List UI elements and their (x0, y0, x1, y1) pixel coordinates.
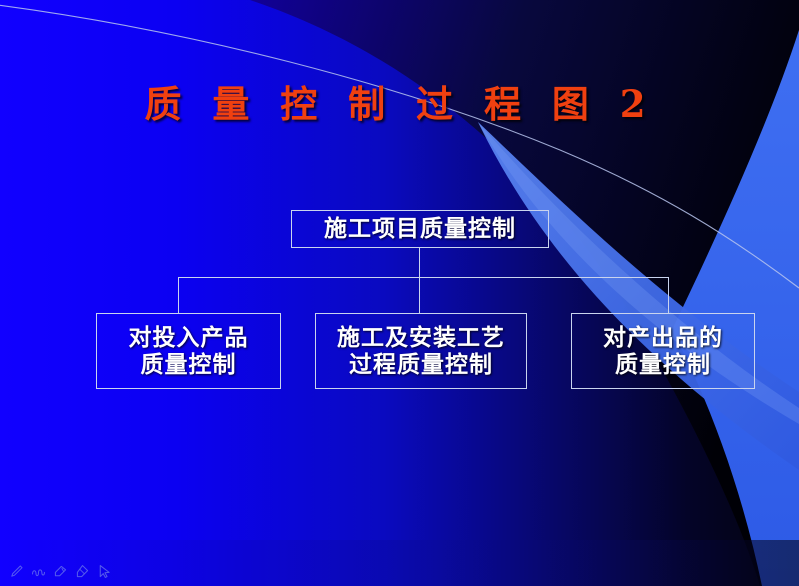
node-process-line-1: 施工及安装工艺 (337, 324, 505, 351)
node-output-line-1: 对产出品的 (603, 324, 723, 351)
connector-root-stem (419, 248, 420, 277)
node-input-line-2: 质量控制 (141, 351, 237, 378)
slide-title: 质 量 控 制 过 程 图 2 (0, 74, 799, 128)
connector-horizontal-bus (178, 277, 668, 278)
node-input-quality-control: 对投入产品 质量控制 (96, 313, 281, 389)
connector-drop-input (178, 277, 179, 313)
connector-drop-process (419, 277, 420, 313)
eraser-icon[interactable] (74, 563, 91, 580)
node-process-quality-control: 施工及安装工艺 过程质量控制 (315, 313, 527, 389)
node-output-line-2: 质量控制 (615, 351, 711, 378)
presentation-slide: 质 量 控 制 过 程 图 2 施工项目质量控制 对投入产品 质量控制 施工及安… (0, 0, 799, 586)
node-root: 施工项目质量控制 (291, 210, 549, 248)
node-process-line-2: 过程质量控制 (349, 351, 493, 378)
pointer-icon[interactable] (96, 563, 113, 580)
highlighter-icon[interactable] (52, 563, 69, 580)
ink-toolbar[interactable] (8, 563, 113, 580)
scribble-icon[interactable] (30, 563, 47, 580)
connector-drop-output (668, 277, 669, 313)
node-input-line-1: 对投入产品 (129, 324, 249, 351)
node-output-quality-control: 对产出品的 质量控制 (571, 313, 755, 389)
pen-icon[interactable] (8, 563, 25, 580)
node-root-line-1: 施工项目质量控制 (324, 215, 516, 242)
